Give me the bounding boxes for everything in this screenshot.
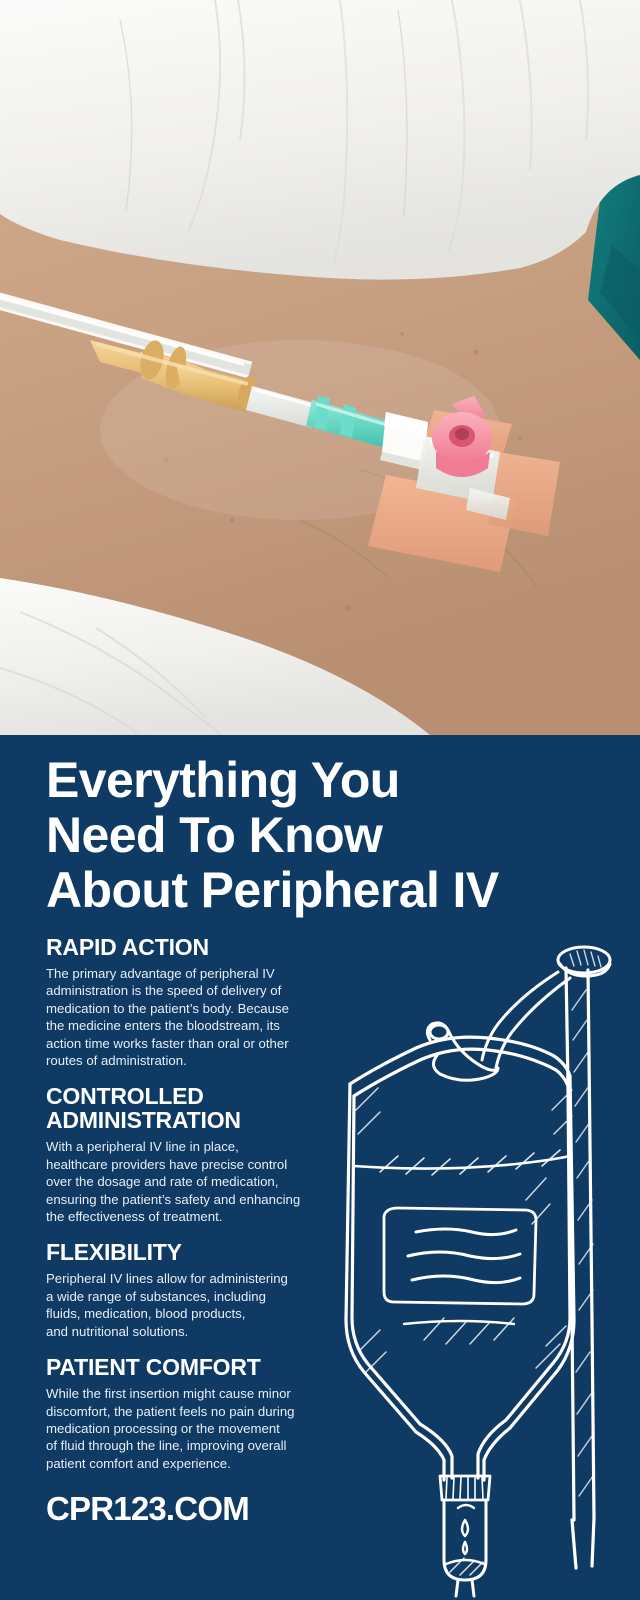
- section-body: While the first insertion might cause mi…: [46, 1385, 326, 1472]
- bag-hanger-arm: [482, 972, 570, 1068]
- body-line: healthcare providers have precise contro…: [46, 1156, 326, 1173]
- section-body: With a peripheral IV line in place, heal…: [46, 1138, 326, 1225]
- iv-bag-illustration: [320, 920, 640, 1600]
- bag-shoulder: [350, 1037, 570, 1096]
- section-heading: CONTROLLED ADMINISTRATION: [46, 1084, 336, 1132]
- body-line: action time works faster than oral or ot…: [46, 1035, 326, 1052]
- section-heading: PATIENT COMFORT: [46, 1355, 336, 1379]
- body-line: fluids, medication, blood products,: [46, 1305, 326, 1322]
- iv-bag-sketch-svg: [320, 920, 640, 1600]
- body-line: administration is the speed of delivery …: [46, 982, 326, 999]
- body-line: discomfort, the patient feels no pain du…: [46, 1403, 326, 1420]
- title-line-3: About Peripheral IV: [46, 863, 336, 918]
- section-body: Peripheral IV lines allow for administer…: [46, 1270, 326, 1340]
- section-flexibility: FLEXIBILITY Peripheral IV lines allow fo…: [46, 1240, 336, 1340]
- body-line: over the dosage and rate of medication,: [46, 1173, 326, 1190]
- section-heading-line: ADMINISTRATION: [46, 1108, 336, 1132]
- body-line: Peripheral IV lines allow for administer…: [46, 1270, 326, 1287]
- body-line: of fluid through the line, improving ove…: [46, 1437, 326, 1454]
- iv-tubing: [456, 1580, 474, 1596]
- text-column: Everything You Need To Know About Periph…: [46, 753, 336, 1527]
- body-line: ensuring the patient’s safety and enhanc…: [46, 1191, 326, 1208]
- body-line: medication processing or the movement: [46, 1420, 326, 1437]
- fluid-droplet: [458, 1505, 474, 1554]
- body-line: With a peripheral IV line in place,: [46, 1138, 326, 1155]
- iv-pole: [566, 968, 594, 1568]
- content-panel: Everything You Need To Know About Periph…: [0, 735, 640, 1600]
- body-line: the effectiveness of treatment.: [46, 1208, 326, 1225]
- bag-neck: [416, 1420, 510, 1480]
- section-heading: RAPID ACTION: [46, 935, 336, 959]
- section-heading-line: FLEXIBILITY: [46, 1240, 336, 1264]
- drip-chamber-collar: [440, 1476, 490, 1500]
- drip-chamber: [444, 1500, 486, 1580]
- title-line-1: Everything You: [46, 753, 336, 808]
- body-line: While the first insertion might cause mi…: [46, 1385, 326, 1402]
- title-line-2: Need To Know: [46, 808, 336, 863]
- fluid-bag-body: [346, 1076, 574, 1432]
- section-heading: FLEXIBILITY: [46, 1240, 336, 1264]
- hero-photo: [0, 0, 640, 735]
- page-title: Everything You Need To Know About Periph…: [46, 753, 336, 918]
- body-line: patient comfort and experience.: [46, 1455, 326, 1472]
- body-line: The primary advantage of peripheral IV: [46, 965, 326, 982]
- section-heading-line: PATIENT COMFORT: [46, 1355, 336, 1379]
- hanger-hook: [558, 947, 610, 976]
- body-line: medication to the patient’s body. Becaus…: [46, 1000, 326, 1017]
- body-line: the medicine enters the bloodstream, its: [46, 1017, 326, 1034]
- section-heading-line: CONTROLLED: [46, 1084, 336, 1108]
- hero-photo-illustration: [0, 0, 640, 735]
- infographic-poster: Everything You Need To Know About Periph…: [0, 0, 640, 1600]
- body-line: and nutritional solutions.: [46, 1323, 326, 1340]
- section-body: The primary advantage of peripheral IV a…: [46, 965, 326, 1069]
- body-line: a wide range of substances, including: [46, 1288, 326, 1305]
- section-patient-comfort: PATIENT COMFORT While the first insertio…: [46, 1355, 336, 1472]
- bag-label-lines: [408, 1229, 520, 1283]
- section-controlled-administration: CONTROLLED ADMINISTRATION With a periphe…: [46, 1084, 336, 1225]
- section-rapid-action: RAPID ACTION The primary advantage of pe…: [46, 935, 336, 1069]
- footer-website-url[interactable]: CPR123.COM: [46, 1491, 336, 1527]
- body-line: routes of administration.: [46, 1052, 326, 1069]
- sections-list: RAPID ACTION The primary advantage of pe…: [46, 935, 336, 1472]
- bag-port: [427, 1023, 498, 1080]
- bag-label: [384, 1208, 536, 1304]
- section-heading-line: RAPID ACTION: [46, 935, 336, 959]
